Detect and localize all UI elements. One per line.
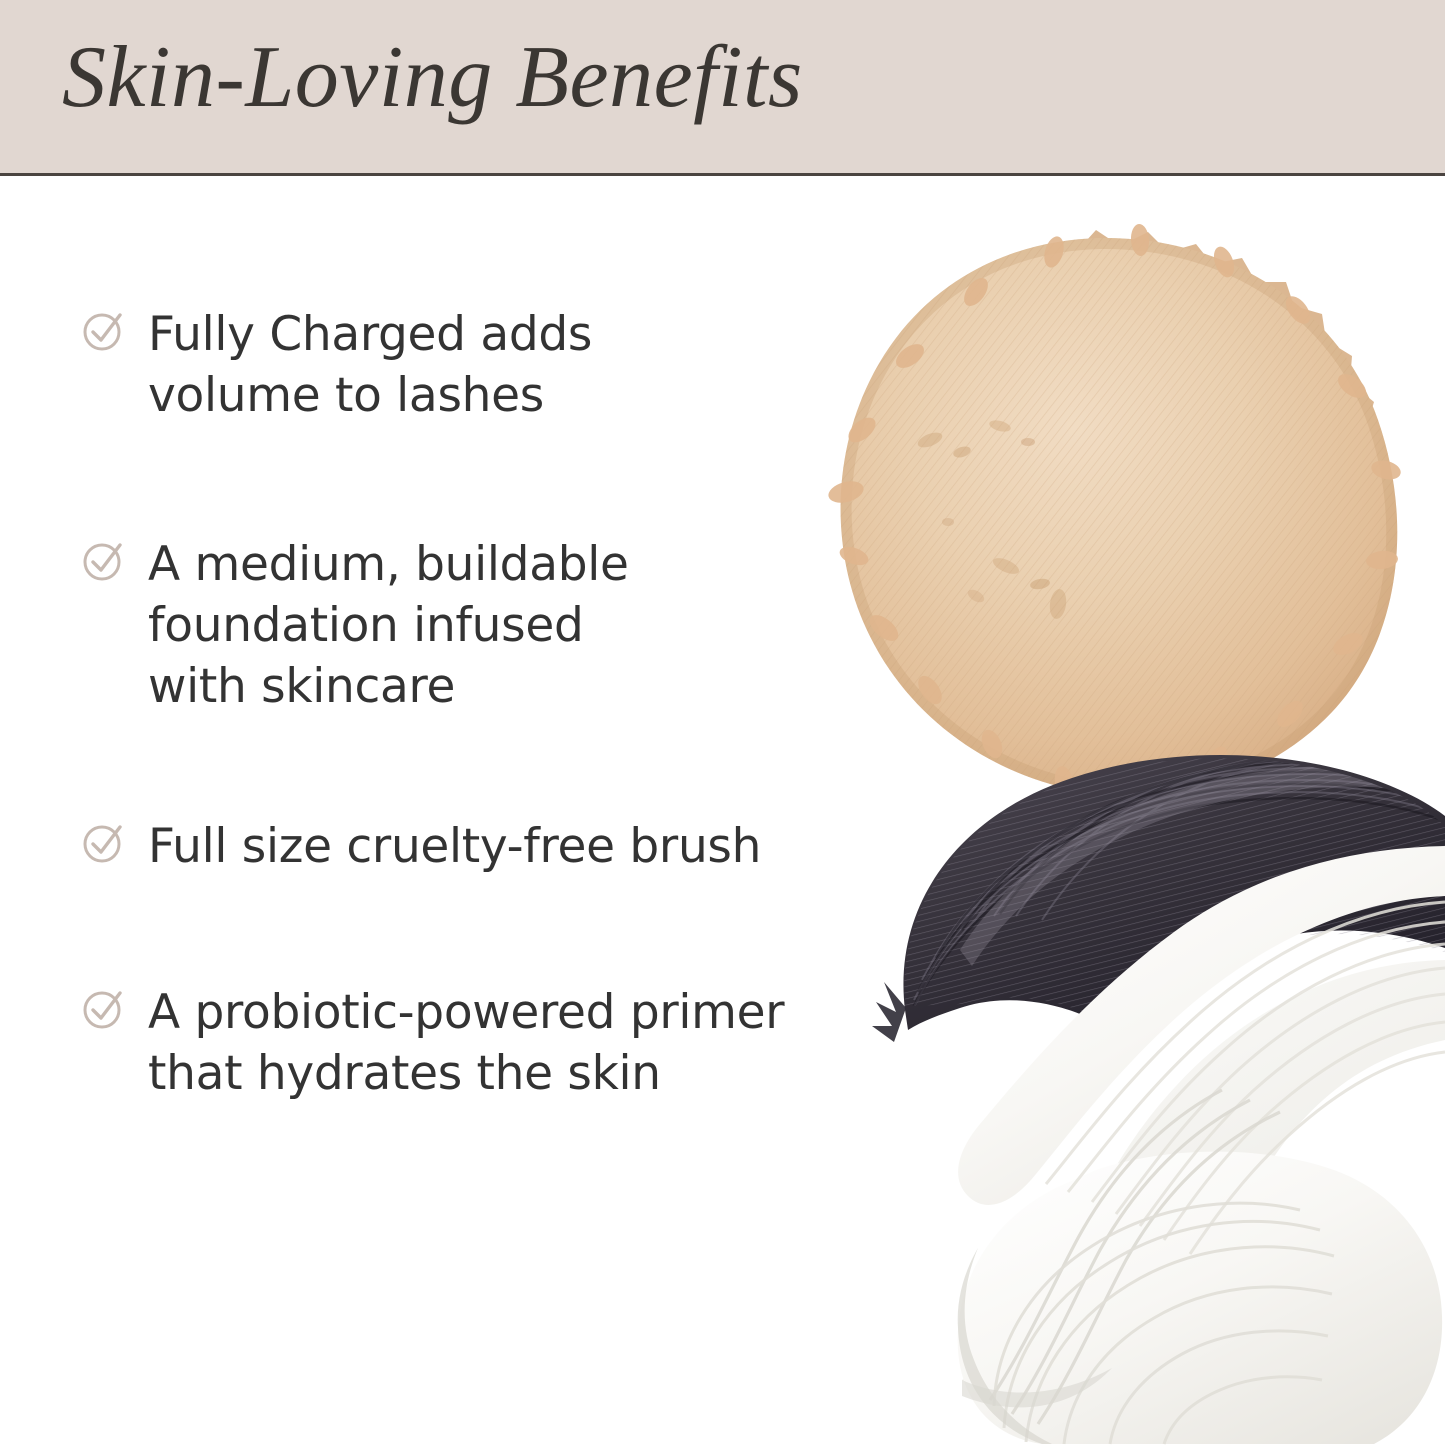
list-item-label: A medium, buildable foundation infused w… bbox=[148, 534, 629, 717]
check-circle-icon bbox=[80, 537, 128, 585]
list-item-label: Fully Charged adds volume to lashes bbox=[148, 304, 592, 426]
check-circle-icon bbox=[80, 819, 128, 867]
list-item: Full size cruelty-free brush bbox=[80, 816, 761, 877]
list-item: A medium, buildable foundation infused w… bbox=[80, 534, 629, 717]
check-circle-icon bbox=[80, 307, 128, 355]
list-item-label: Full size cruelty-free brush bbox=[148, 816, 761, 877]
list-item-label: A probiotic-powered primer that hydrates… bbox=[148, 982, 784, 1104]
primer-cream-swirl-swatch bbox=[958, 846, 1445, 1444]
list-item: A probiotic-powered primer that hydrates… bbox=[80, 982, 784, 1104]
list-item: Fully Charged adds volume to lashes bbox=[80, 304, 592, 426]
benefits-infographic: Skin-Loving Benefits bbox=[0, 0, 1445, 1445]
page-title: Skin-Loving Benefits bbox=[62, 30, 803, 127]
benefits-list: Fully Charged adds volume to lashes A me… bbox=[0, 176, 940, 1445]
check-circle-icon bbox=[80, 985, 128, 1033]
header-band: Skin-Loving Benefits bbox=[0, 0, 1445, 176]
mascara-brush-stroke-swatch bbox=[872, 740, 1445, 1060]
